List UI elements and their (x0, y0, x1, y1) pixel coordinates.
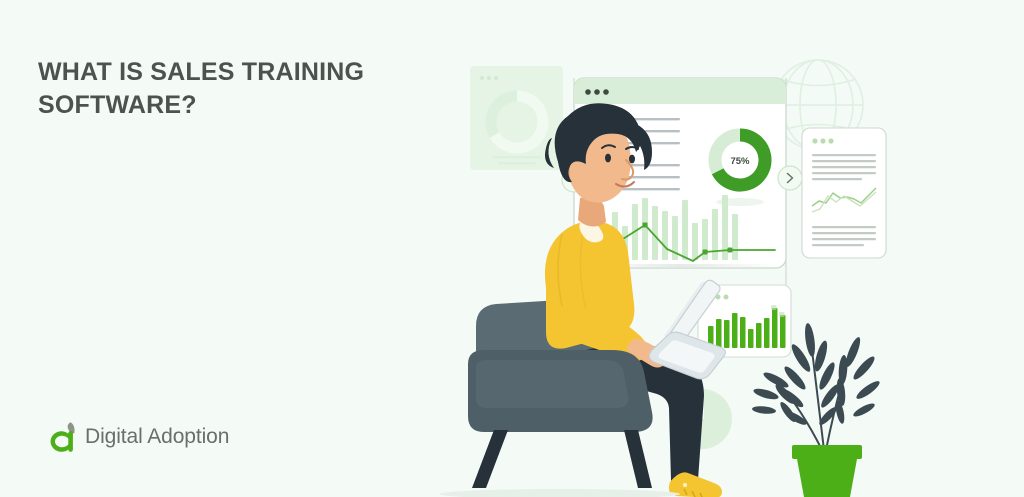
floor-shadow (440, 489, 680, 497)
person-eye-left (605, 154, 611, 163)
plant-pot-body (797, 459, 857, 497)
window-titlebar-dots[interactable] (585, 89, 609, 95)
logo-wordmark: Digital Adoption (85, 425, 229, 449)
carousel-next-button[interactable] (778, 166, 802, 190)
document-card[interactable] (802, 128, 886, 258)
plant-pot-rim (792, 445, 862, 459)
armchair-leg-left (472, 430, 508, 488)
armchair-leg-right (624, 430, 652, 488)
logo-a-mark-icon (48, 420, 78, 454)
background-ghost-card (470, 66, 563, 170)
donut-value-label: 75% (730, 156, 750, 167)
page-title: What is sales training software? (38, 56, 428, 122)
banner-root: What is sales training software? Digital… (0, 0, 1024, 497)
armchair-front (468, 350, 653, 488)
hero-illustration: 75% (440, 20, 1024, 497)
brand-logo[interactable]: Digital Adoption (48, 420, 229, 454)
person-eye-right (629, 155, 635, 164)
